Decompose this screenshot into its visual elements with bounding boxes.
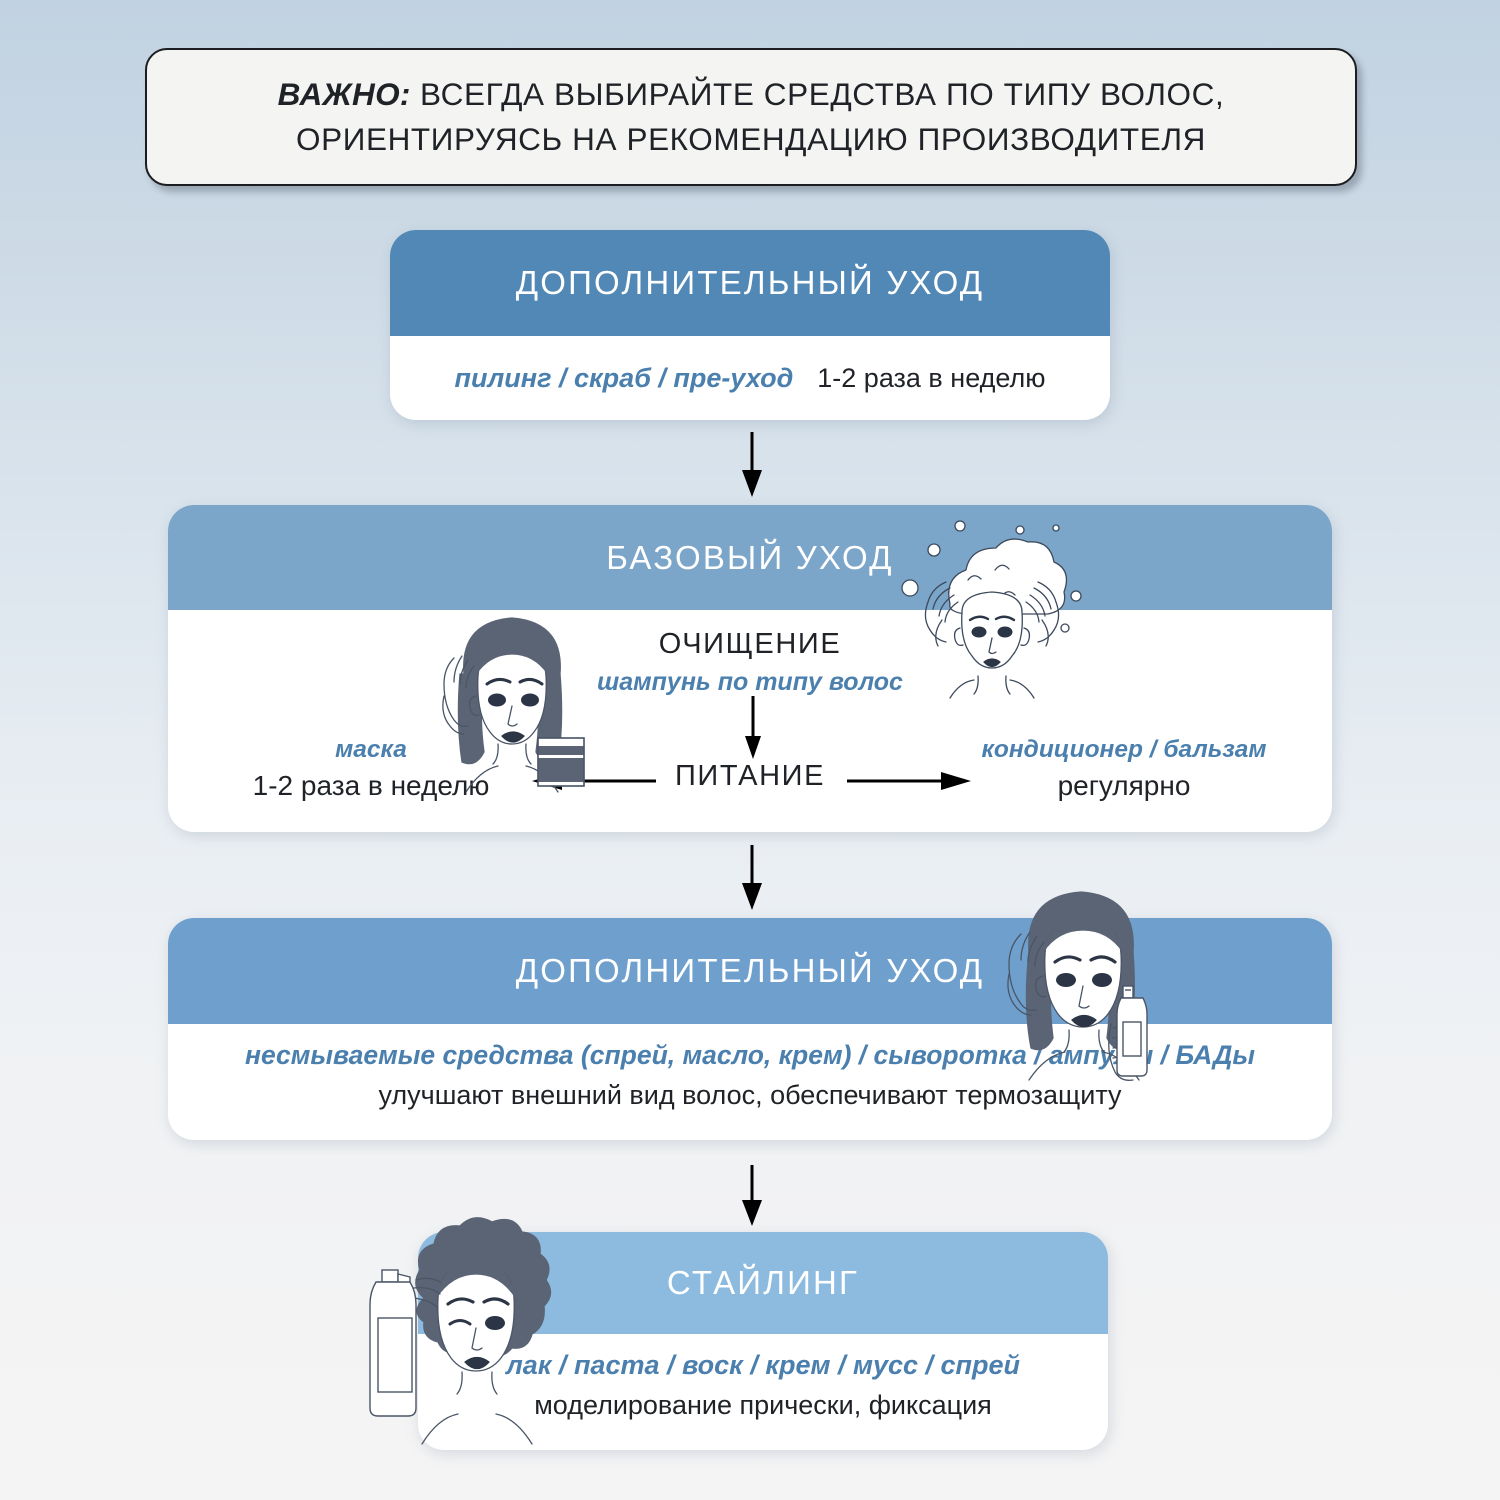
woman-serum-icon bbox=[985, 872, 1185, 1082]
arrow-right-icon bbox=[847, 770, 971, 792]
arrow-down-icon bbox=[740, 696, 766, 760]
card-styling-title: СТАЙЛИНГ bbox=[667, 1264, 859, 1302]
woman-mask-icon bbox=[408, 596, 608, 796]
card-extra-care-top-title: ДОПОЛНИТЕЛЬНЫЙ УХОД bbox=[516, 264, 985, 302]
cleansing-title: ОЧИЩЕНИЕ bbox=[168, 628, 1332, 661]
conditioner-label: кондиционер / бальзам bbox=[944, 736, 1304, 764]
conditioner-frequency: регулярно bbox=[944, 770, 1304, 802]
woman-with-hairspray-illustration bbox=[358, 1206, 588, 1446]
conditioner-block: кондиционер / бальзам регулярно bbox=[944, 736, 1304, 802]
card-extra-care-bottom-title: ДОПОЛНИТЕЛЬНЫЙ УХОД bbox=[516, 952, 985, 990]
arrow-down-icon bbox=[737, 432, 767, 498]
arrow-down-icon bbox=[737, 1165, 767, 1227]
arrow-basic-to-extra-bottom bbox=[737, 845, 767, 911]
banner-line2: ОРИЕНТИРУЯСЬ НА РЕКОМЕНДАЦИЮ ПРОИЗВОДИТЕ… bbox=[296, 121, 1206, 157]
woman-styling-icon bbox=[358, 1206, 588, 1446]
banner-keyword: ВАЖНО: bbox=[278, 76, 411, 112]
woman-applying-mask-illustration bbox=[408, 596, 608, 796]
extra-care-top-products: пилинг / скраб / пре-уход bbox=[454, 363, 793, 394]
card-extra-care-top: ДОПОЛНИТЕЛЬНЫЙ УХОД пилинг / скраб / пре… bbox=[390, 230, 1110, 420]
extra-care-bottom-description: улучшают внешний вид волос, обеспечивают… bbox=[168, 1080, 1332, 1111]
arrow-down-icon bbox=[737, 845, 767, 911]
woman-washing-hair-illustration bbox=[890, 508, 1095, 698]
arrow-extra-bottom-to-styling bbox=[737, 1165, 767, 1227]
arrow-nutrition-to-conditioner bbox=[847, 770, 971, 792]
card-extra-care-top-header: ДОПОЛНИТЕЛЬНЫЙ УХОД bbox=[390, 230, 1110, 336]
important-notice-banner: ВАЖНО: ВСЕГДА ВЫБИРАЙТЕ СРЕДСТВА ПО ТИПУ… bbox=[145, 48, 1357, 186]
card-basic-care-header: БАЗОВЫЙ УХОД bbox=[168, 505, 1332, 610]
woman-shampoo-icon bbox=[890, 508, 1095, 698]
cleansing-subtitle: шампунь по типу волос bbox=[168, 668, 1332, 697]
banner-text: ВАЖНО: ВСЕГДА ВЫБИРАЙТЕ СРЕДСТВА ПО ТИПУ… bbox=[248, 72, 1255, 161]
arrow-extra-top-to-basic bbox=[737, 432, 767, 498]
card-basic-care-title: БАЗОВЫЙ УХОД bbox=[606, 539, 893, 577]
extra-care-top-frequency: 1-2 раза в неделю bbox=[817, 363, 1045, 394]
woman-holding-serum-illustration bbox=[985, 872, 1185, 1082]
card-extra-care-top-body: пилинг / скраб / пре-уход 1-2 раза в нед… bbox=[390, 336, 1110, 420]
card-basic-care: БАЗОВЫЙ УХОД ОЧИЩЕНИЕ шампунь по типу во… bbox=[168, 505, 1332, 832]
arrow-cleansing-to-nutrition bbox=[740, 696, 766, 760]
banner-line1-rest: ВСЕГДА ВЫБИРАЙТЕ СРЕДСТВА ПО ТИПУ ВОЛОС, bbox=[411, 76, 1225, 112]
